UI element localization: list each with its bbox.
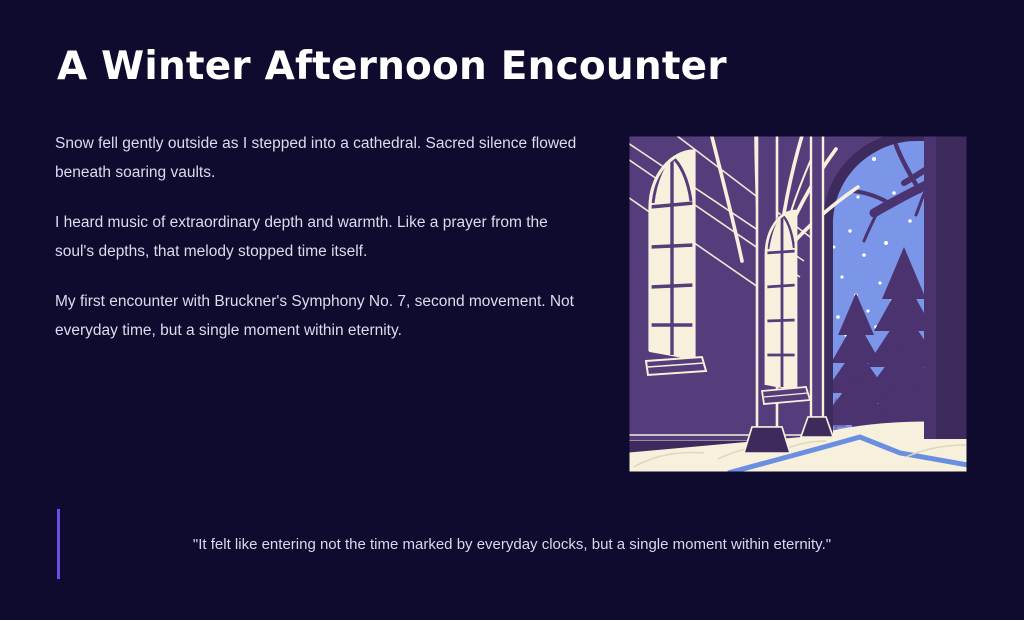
body-paragraph-1: Snow fell gently outside as I stepped in… xyxy=(55,129,585,187)
body-paragraph-3: My first encounter with Bruckner's Symph… xyxy=(55,287,585,345)
cathedral-winter-illustration xyxy=(628,135,968,473)
page-title: A Winter Afternoon Encounter xyxy=(57,44,727,89)
quote-block: "It felt like entering not the time mark… xyxy=(55,509,969,579)
body-copy: Snow fell gently outside as I stepped in… xyxy=(55,129,585,366)
slide-canvas: A Winter Afternoon Encounter Snow fell g… xyxy=(0,0,1024,620)
quote-text: "It felt like entering not the time mark… xyxy=(55,509,969,579)
body-paragraph-2: I heard music of extraordinary depth and… xyxy=(55,208,585,266)
